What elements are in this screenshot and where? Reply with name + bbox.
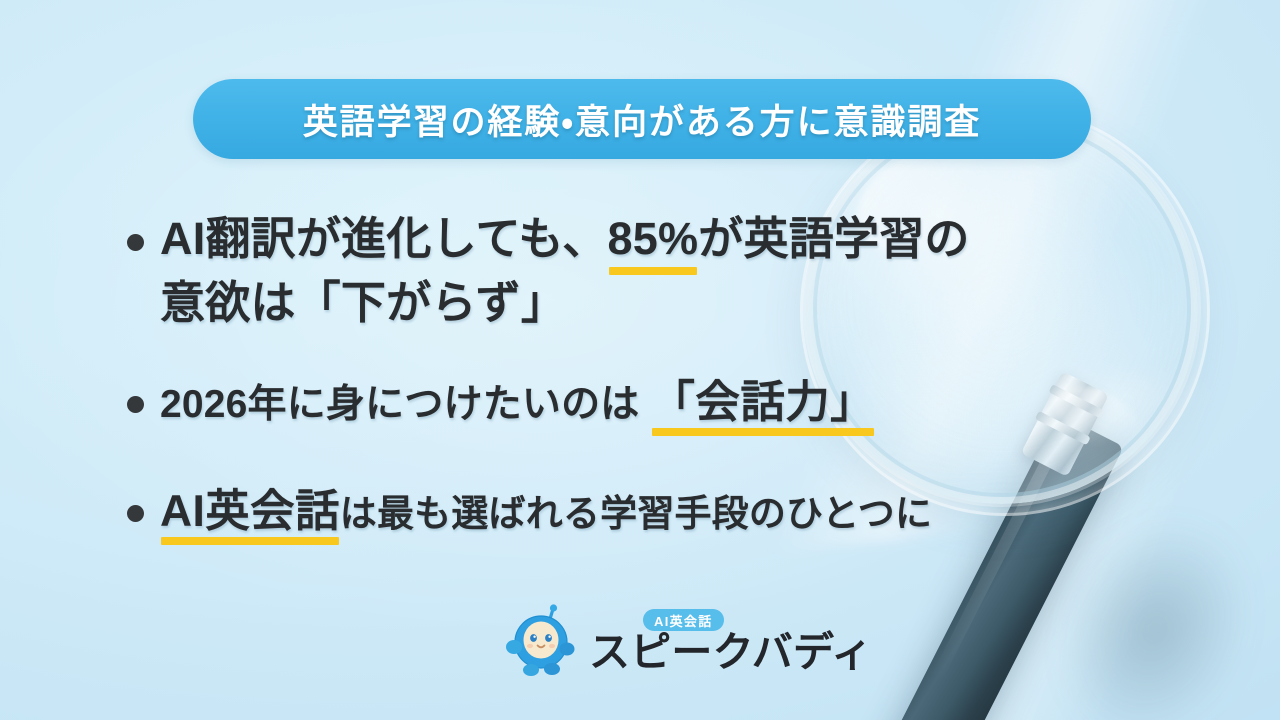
slide-canvas: 英語学習の経験・意向がある方に意識調査 AI翻訳が進化しても、85%が英語学習の… xyxy=(0,0,1280,720)
bullet-2-segment-a: 2026年に身につけたいのは xyxy=(160,383,651,426)
bullet-1-highlight-85-percent: 85% xyxy=(608,208,699,272)
bullet-1-segment-a: AI翻訳が進化しても、 xyxy=(160,213,608,264)
bullet-3-highlight-ai-eikaiwa: AI英会話 xyxy=(160,484,340,542)
logo-badge-label: AI英会話 xyxy=(654,611,713,630)
logo-text-lockup: AI英会話 スピークバディ xyxy=(589,609,873,673)
bullet-3-text: AI英会話は最も選ばれる学習手段のひとつに xyxy=(160,484,932,542)
bullet-2-text: 2026年に身につけたいのは 「会話力」 xyxy=(160,375,875,433)
header-title: 英語学習の経験・意向がある方に意識調査 xyxy=(303,94,981,145)
bullet-dot-icon xyxy=(127,234,144,251)
list-item: AI翻訳が進化しても、85%が英語学習の意欲は「下がらず」 xyxy=(127,208,970,334)
logo-badge: AI英会話 xyxy=(643,609,724,631)
list-item: AI英会話は最も選ばれる学習手段のひとつに xyxy=(127,484,932,542)
bullet-3-segment-b: は最も選ばれる学習手段のひとつに xyxy=(340,493,932,534)
bullet-dot-icon xyxy=(127,396,144,413)
list-item: 2026年に身につけたいのは 「会話力」 xyxy=(127,375,875,433)
bullet-2-highlight-kaiwaryoku: 「会話力」 xyxy=(651,375,876,433)
bullet-1-text: AI翻訳が進化しても、85%が英語学習の意欲は「下がらず」 xyxy=(160,208,970,334)
header-banner: 英語学習の経験・意向がある方に意識調査 xyxy=(193,79,1091,159)
logo-wordmark: スピークバディ xyxy=(589,632,873,673)
bullet-dot-icon xyxy=(127,505,144,522)
bullet-1-segment-b: が英語学習の xyxy=(698,213,969,264)
speakbuddy-mascot-icon xyxy=(503,603,579,679)
bullet-1-line-2: 意欲は「下がらず」 xyxy=(160,277,566,328)
brand-logo: AI英会話 スピークバディ xyxy=(503,603,873,679)
